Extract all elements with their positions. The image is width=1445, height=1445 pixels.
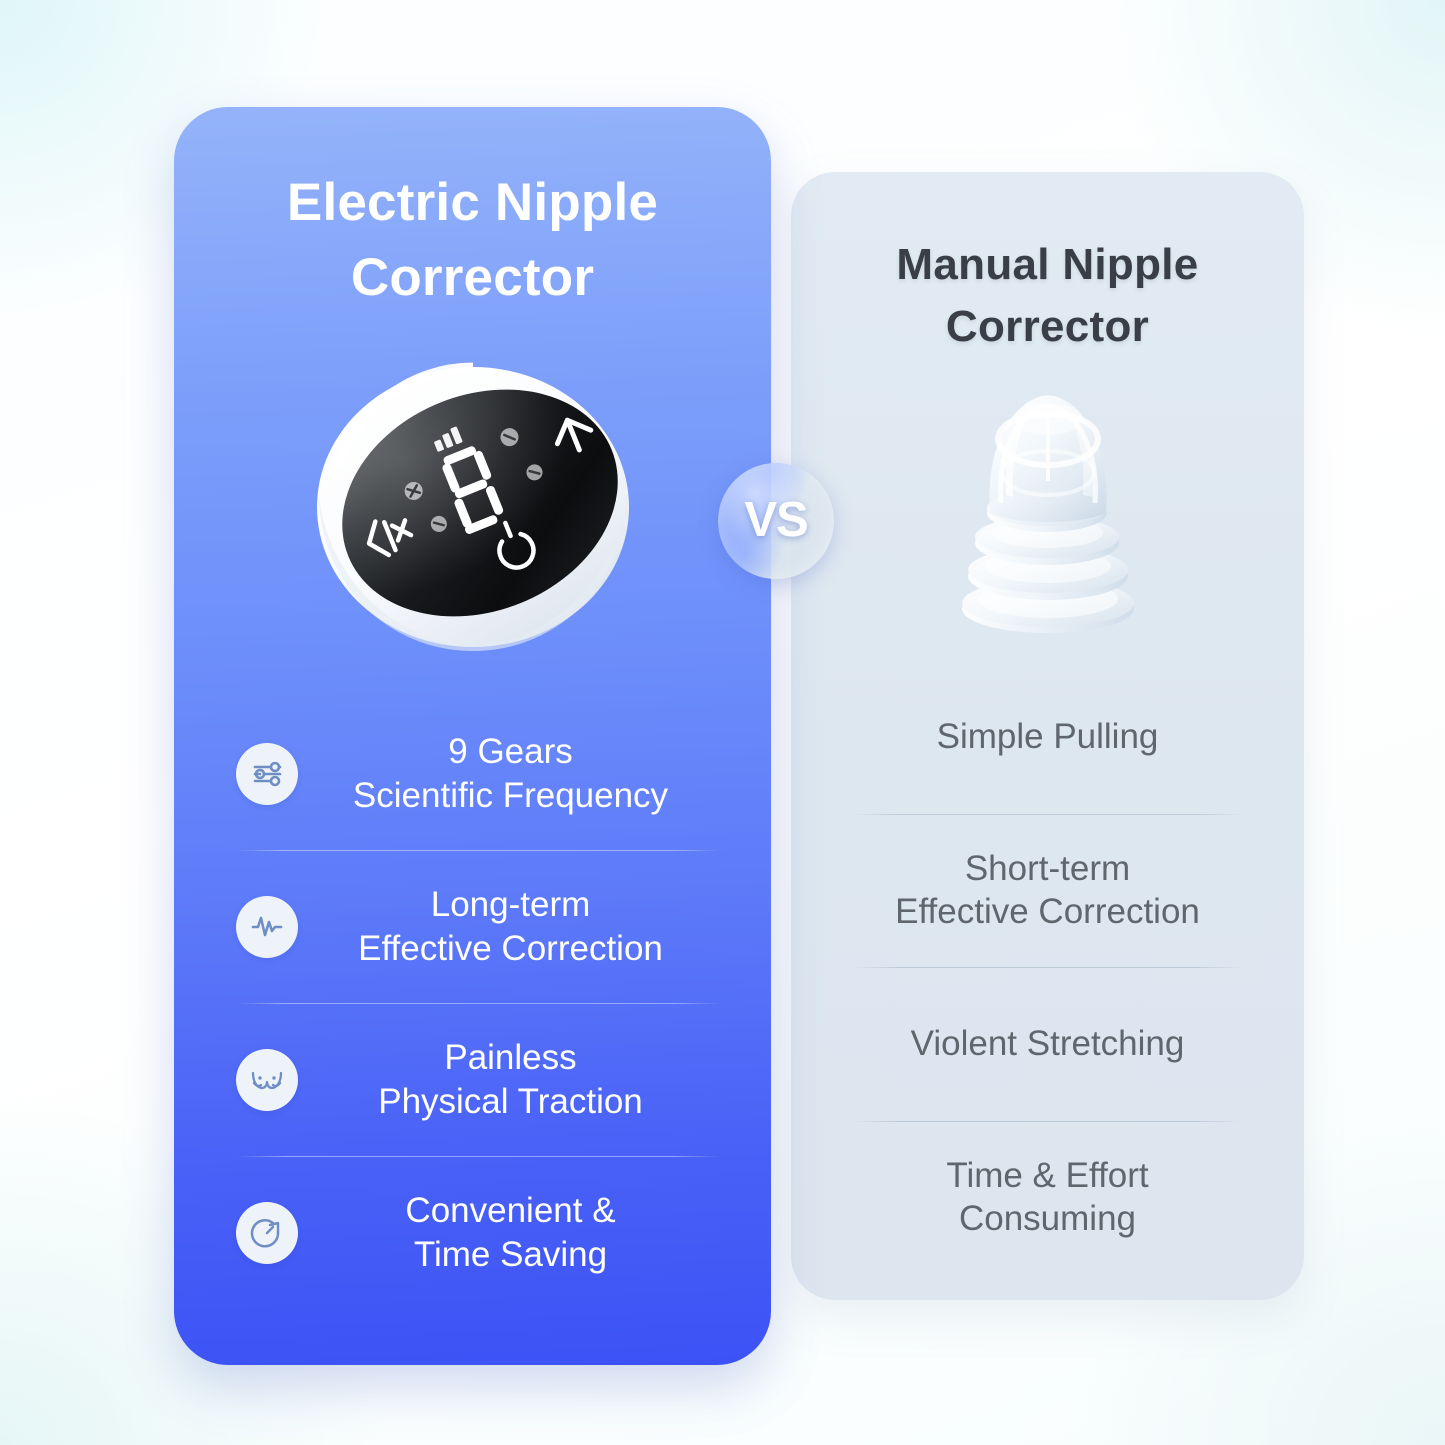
manual-feature-text: Short-term Effective Correction [895, 847, 1200, 935]
electric-feature-item: 9 Gears Scientific Frequency [230, 697, 725, 850]
electric-card-title: Electric Nipple Corrector [174, 165, 771, 316]
manual-feature-line-1: Simple Pulling [937, 715, 1159, 759]
manual-feature-item: Violent Stretching [843, 967, 1252, 1121]
manual-feature-line-1: Short-term [895, 847, 1200, 891]
electric-feature-item: Painless Physical Traction [230, 1003, 725, 1156]
manual-feature-line-2: Consuming [946, 1197, 1148, 1241]
electric-feature-text: Long-term Effective Correction [298, 883, 725, 971]
manual-feature-item: Short-term Effective Correction [843, 814, 1252, 968]
electric-feature-line-2: Time Saving [302, 1233, 719, 1277]
electric-title-line-2: Corrector [174, 240, 771, 315]
manual-feature-text: Simple Pulling [937, 715, 1159, 759]
manual-feature-item: Simple Pulling [843, 660, 1252, 814]
manual-feature-line-2: Effective Correction [895, 890, 1200, 934]
electric-feature-text: Convenient & Time Saving [298, 1189, 725, 1277]
manual-feature-list: Simple Pulling Short-term Effective Corr… [843, 660, 1252, 1274]
manual-feature-text: Violent Stretching [911, 1022, 1185, 1066]
electric-feature-line-1: 9 Gears [302, 730, 719, 774]
electric-feature-line-1: Convenient & [302, 1189, 719, 1233]
manual-feature-text: Time & Effort Consuming [946, 1154, 1148, 1242]
manual-title-line-2: Corrector [791, 296, 1304, 358]
manual-corrector-card: Manual Nipple Corrector [791, 172, 1304, 1300]
comparison-infographic: Manual Nipple Corrector [0, 0, 1445, 1445]
electric-corrector-device-image [310, 355, 636, 655]
electric-corrector-card: Electric Nipple Corrector [174, 107, 771, 1365]
electric-feature-item: Long-term Effective Correction [230, 850, 725, 1003]
pulse-icon [236, 896, 298, 958]
electric-title-line-1: Electric Nipple [174, 165, 771, 240]
manual-feature-line-1: Violent Stretching [911, 1022, 1185, 1066]
manual-product-image-wrap [791, 377, 1304, 642]
breast-icon [236, 1049, 298, 1111]
electric-feature-item: Convenient & Time Saving [230, 1156, 725, 1309]
electric-feature-line-1: Long-term [302, 883, 719, 927]
manual-silicone-corrector-image [923, 377, 1173, 639]
manual-feature-line-1: Time & Effort [946, 1154, 1148, 1198]
electric-feature-line-2: Physical Traction [302, 1080, 719, 1124]
sliders-icon [236, 743, 298, 805]
stopwatch-icon [236, 1202, 298, 1264]
vs-label: VS [744, 492, 807, 548]
vs-badge: VS [718, 463, 834, 579]
electric-feature-text: 9 Gears Scientific Frequency [298, 730, 725, 818]
manual-title-line-1: Manual Nipple [791, 234, 1304, 296]
electric-product-image-wrap [174, 355, 771, 665]
electric-feature-line-2: Scientific Frequency [302, 774, 719, 818]
electric-feature-line-2: Effective Correction [302, 927, 719, 971]
manual-card-title: Manual Nipple Corrector [791, 234, 1304, 359]
electric-feature-text: Painless Physical Traction [298, 1036, 725, 1124]
manual-feature-item: Time & Effort Consuming [843, 1121, 1252, 1275]
electric-feature-line-1: Painless [302, 1036, 719, 1080]
electric-feature-list: 9 Gears Scientific Frequency Long-term E… [230, 697, 725, 1309]
